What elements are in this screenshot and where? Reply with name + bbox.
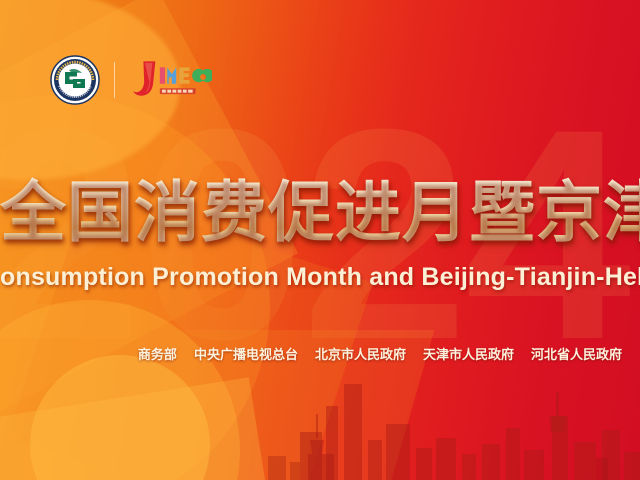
organizer-item: 中央广播电视总台 — [194, 344, 298, 363]
promotional-banner: 2024 — [0, 0, 640, 480]
organizer-item: 天津市人民政府 — [423, 344, 514, 363]
organizer-item: 河北省人民政府 — [531, 344, 622, 363]
page-subtitle: onsumption Promotion Month and Beijing-T… — [0, 262, 640, 292]
organizer-list: 商务部 中央广播电视总台 北京市人民政府 天津市人民政府 河北省人民政府 — [138, 344, 622, 363]
logo-divider — [114, 62, 115, 98]
jime-wordmark-icon — [130, 58, 212, 102]
consumption-promotion-emblem-icon — [50, 55, 100, 105]
headline-block: 全国消费促进月暨京津冀 onsumption Promotion Month a… — [0, 176, 640, 292]
logo-row — [50, 54, 212, 106]
organizer-item: 商务部 — [138, 344, 177, 363]
page-title: 全国消费促进月暨京津冀 — [0, 176, 640, 250]
jime-logo — [130, 58, 212, 102]
organizer-item: 北京市人民政府 — [315, 344, 406, 363]
city-skyline-silhouette — [0, 370, 640, 480]
